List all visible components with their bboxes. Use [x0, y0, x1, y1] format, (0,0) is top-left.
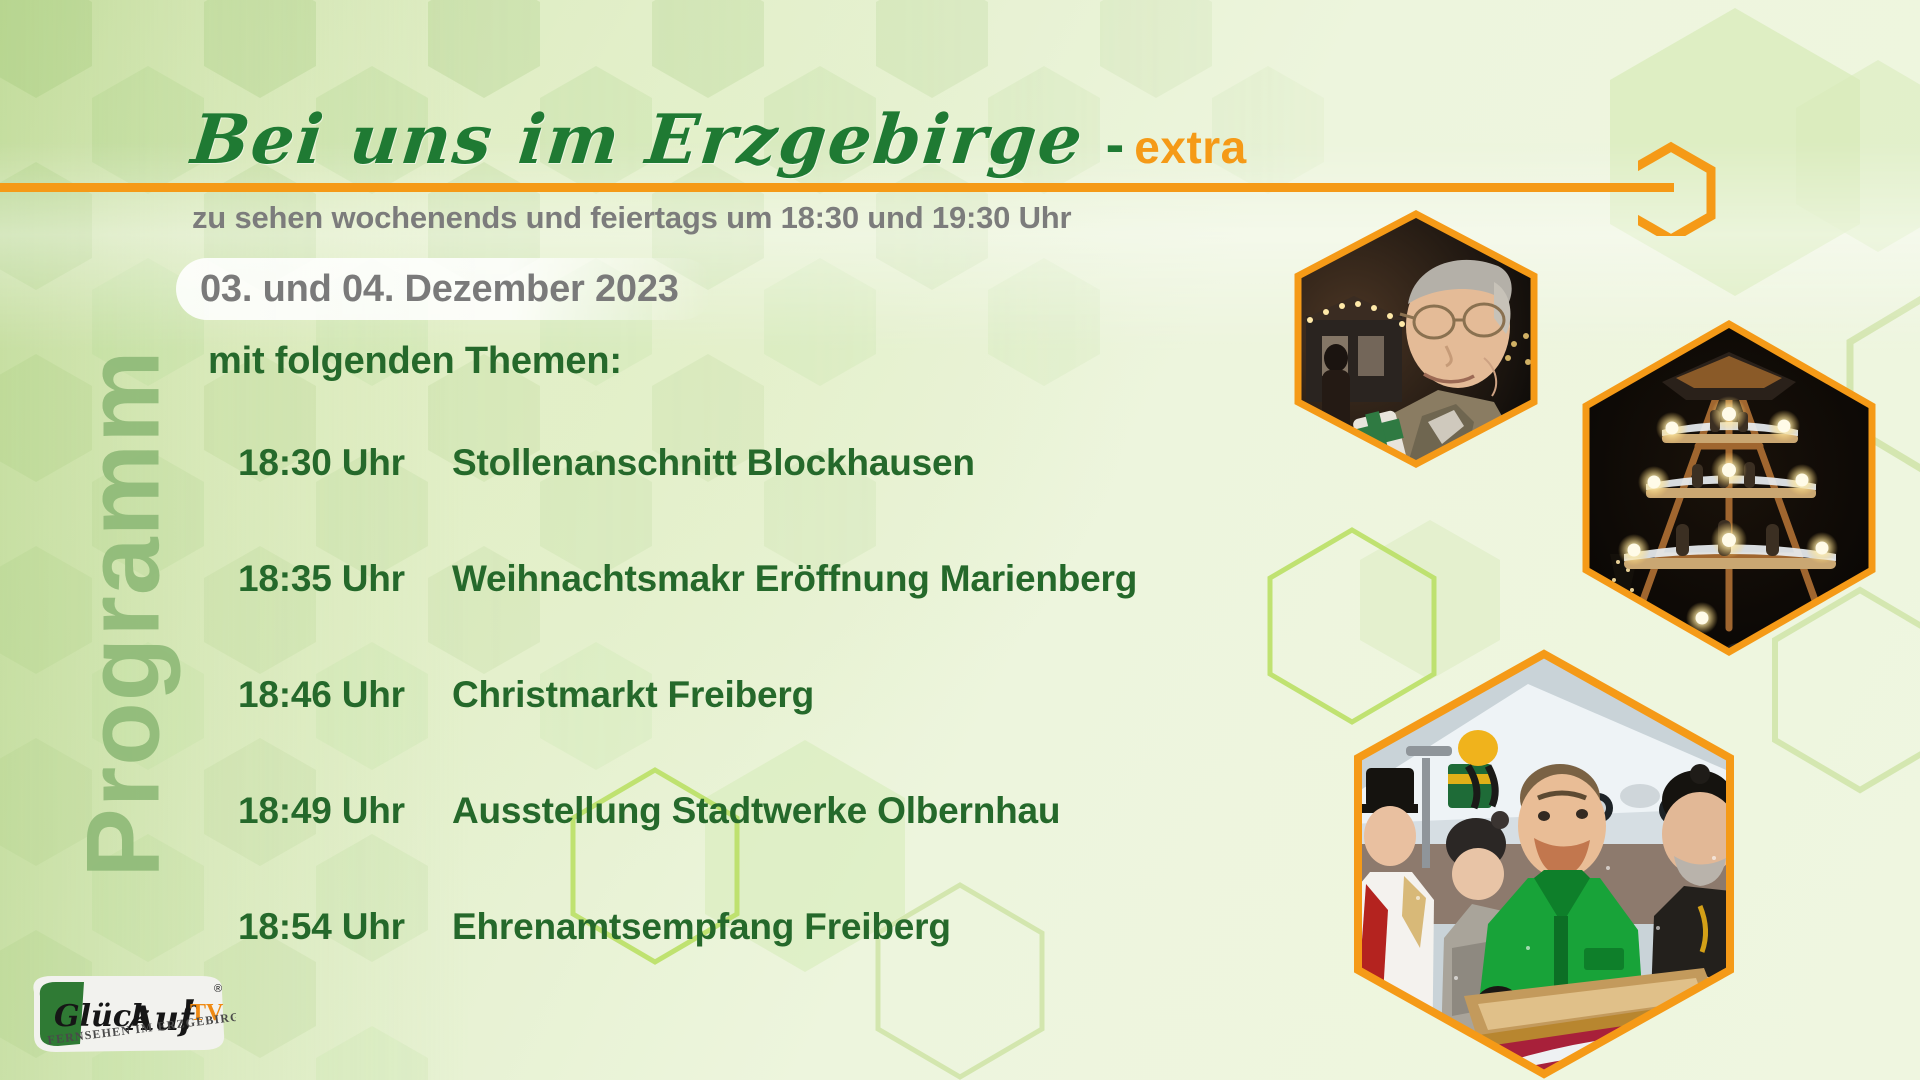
- program-item: 18:30 Uhr Stollenanschnitt Blockhausen: [238, 442, 1238, 558]
- program-item: 18:49 Uhr Ausstellung Stadtwerke Olbernh…: [238, 790, 1238, 906]
- date-text: 03. und 04. Dezember 2023: [200, 268, 679, 311]
- photo-stollen-ceremony: [1348, 648, 1740, 1080]
- program-item-time: 18:54 Uhr: [238, 906, 452, 948]
- title-script-text: Bei uns im Erzgebirge: [188, 100, 1088, 180]
- program-item: 18:54 Uhr Ehrenamtsempfang Freiberg: [238, 906, 1238, 1022]
- photo-christmas-pyramid: [1576, 318, 1882, 658]
- program-item-topic: Christmarkt Freiberg: [452, 674, 814, 716]
- rule-end-hexagon-icon: [1638, 140, 1734, 236]
- themes-intro: mit folgenden Themen:: [208, 340, 622, 383]
- date-badge: 03. und 04. Dezember 2023: [176, 258, 713, 320]
- program-item-time: 18:30 Uhr: [238, 442, 452, 484]
- program-item: 18:35 Uhr Weihnachtsmakr Eröffnung Marie…: [238, 558, 1238, 674]
- logo-registered: ®: [214, 983, 222, 995]
- title-dash: -: [1084, 111, 1135, 176]
- program-item-time: 18:35 Uhr: [238, 558, 452, 600]
- program-item-topic: Ehrenamtsempfang Freiberg: [452, 906, 951, 948]
- program-item-topic: Stollenanschnitt Blockhausen: [452, 442, 975, 484]
- program-item-topic: Ausstellung Stadtwerke Olbernhau: [452, 790, 1060, 832]
- photo-man-interview: [1288, 208, 1544, 470]
- title-extra-badge: extra: [1134, 120, 1246, 174]
- program-item-time: 18:49 Uhr: [238, 790, 452, 832]
- header-rule: [0, 183, 1674, 192]
- program-item: 18:46 Uhr Christmarkt Freiberg: [238, 674, 1238, 790]
- program-list: 18:30 Uhr Stollenanschnitt Blockhausen 1…: [238, 442, 1238, 1022]
- glueckauf-tv-logo: Glück Auf ! TV ® FERNSEHEN IM ERZGEBIRGE: [24, 972, 236, 1056]
- program-item-time: 18:46 Uhr: [238, 674, 452, 716]
- broadcast-times-subtitle: zu sehen wochenends und feiertags um 18:…: [192, 200, 1071, 236]
- page-title: Bei uns im Erzgebirge - extra: [192, 100, 1247, 180]
- broadcast-slide: Programm Bei uns im Erzgebirge - extra z…: [0, 0, 1920, 1080]
- program-item-topic: Weihnachtsmakr Eröffnung Marienberg: [452, 558, 1137, 600]
